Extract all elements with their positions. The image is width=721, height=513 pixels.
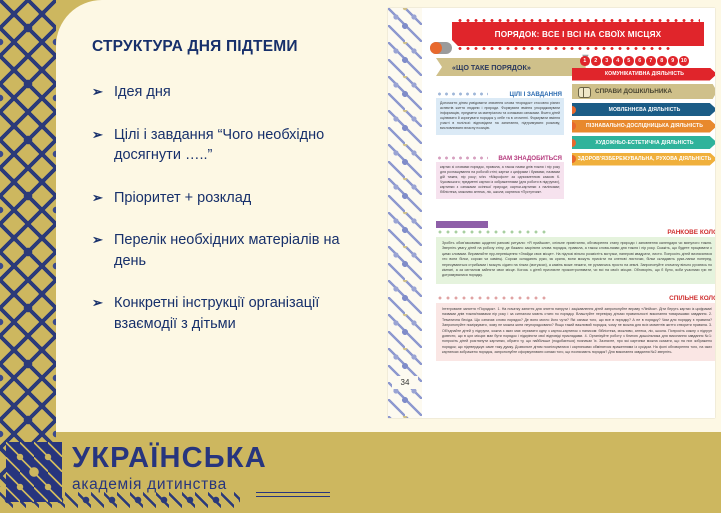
materials-box: ВАМ ЗНАДОБИТЬСЯ картки зі словами порядо… [436, 156, 564, 199]
common-circle-heading: СПІЛЬНЕ КОЛО [436, 295, 715, 302]
book-page: 34 ПОРЯДОК: ВСЕ І ВСІ НА СВОЇХ МІСЦЯХ «Щ… [388, 8, 715, 418]
olive-tab: «ЩО ТАКЕ ПОРЯДОК» [436, 58, 586, 76]
bullet-arrow-icon: ➢ [92, 231, 103, 249]
step-number-row: 1 2 3 4 5 6 7 8 9 10 [580, 56, 715, 66]
page-scan-panel: 34 ПОРЯДОК: ВСЕ І ВСІ НА СВОЇХ МІСЦЯХ «Щ… [388, 0, 721, 432]
embroidery-logo-icon [6, 442, 62, 502]
goals-heading: ЦІЛІ І ЗАВДАННЯ [436, 91, 564, 98]
dotted-rule-under-banner [456, 47, 670, 50]
morning-circle-body: Зробіть обов'язковими щоденні ранкові ри… [436, 237, 715, 284]
page-ornament-strip [388, 8, 422, 418]
materials-heading: ВАМ ЗНАДОБИТЬСЯ [436, 155, 564, 162]
morning-circle-heading: РАНКОВЕ КОЛО [436, 229, 715, 236]
step-number: 5 [624, 56, 634, 66]
bullet-arrow-icon: ➢ [92, 294, 103, 312]
step-number: 7 [646, 56, 656, 66]
outline-panel: СТРУКТУРА ДНЯ ПІДТЕМИ ➢ Ідея дня ➢ Цілі … [56, 0, 388, 432]
activity-bar-health: ЗДОРОВ'ЯЗБЕРЕЖУВАЛЬНА, РУХОВА ДІЯЛЬНІСТЬ [572, 153, 715, 166]
bullet-arrow-icon: ➢ [92, 83, 103, 101]
slide-content-card: СТРУКТУРА ДНЯ ПІДТЕМИ ➢ Ідея дня ➢ Цілі … [56, 0, 721, 432]
spravy-header: СПРАВИ ДОШКІЛЬНИКА [572, 84, 715, 99]
goals-box: ЦІЛІ І ЗАВДАННЯ Допомогти дітям усвідоми… [436, 92, 564, 135]
communicative-activity-bar: КОМУНІКАТИВНА ДІЯЛЬНІСТЬ [572, 68, 715, 81]
brand-line-1: УКРАЇНСЬКА [72, 444, 267, 473]
list-item: ➢ Пріоритет + розклад [92, 188, 374, 209]
list-item: ➢ Ідея дня [92, 82, 374, 103]
step-number: 8 [657, 56, 667, 66]
step-number: 10 [679, 56, 689, 66]
common-circle-section: СПІЛЬНЕ КОЛО Інтегроване заняття «Порядо… [436, 296, 715, 361]
brand-rule-divider [256, 492, 330, 497]
list-item-label: Перелік необхідних матеріалів на день [114, 232, 340, 269]
activity-bar-cognitive: ПІЗНАВАЛЬНО-ДОСЛІДНИЦЬКА ДІЯЛЬНІСТЬ [572, 120, 715, 133]
footer-branding: УКРАЇНСЬКА академія дитинства [0, 432, 721, 513]
step-number: 9 [668, 56, 678, 66]
page-number: 34 [392, 376, 418, 389]
brand-wordmark: УКРАЇНСЬКА академія дитинства [72, 444, 267, 494]
list-item: ➢ Перелік необхідних матеріалів на день [92, 230, 374, 271]
page-title: СТРУКТУРА ДНЯ ПІДТЕМИ [92, 38, 374, 56]
spravy-label: СПРАВИ ДОШКІЛЬНИКА [595, 88, 672, 95]
activity-column: 1 2 3 4 5 6 7 8 9 10 КОМУНІКАТИВНА ДІЯЛЬ… [572, 56, 715, 169]
list-item-label: Конкретні інструкції організації взаємод… [114, 295, 319, 332]
goals-body: Допомогти дітям усвідомити значення слов… [436, 98, 564, 135]
activity-bar-artistic: ХУДОЖНЬО-ЕСТЕТИЧНА ДІЯЛЬНІСТЬ [572, 136, 715, 149]
step-number: 4 [613, 56, 623, 66]
step-number: 3 [602, 56, 612, 66]
page-banner-title: ПОРЯДОК: ВСЕ І ВСІ НА СВОЇХ МІСЦЯХ [452, 22, 704, 46]
materials-body: картки зі словами порядок, правила, а та… [436, 162, 564, 199]
bullet-arrow-icon: ➢ [92, 189, 103, 207]
common-circle-body: Інтегроване заняття «Порядок». 1. На поч… [436, 303, 715, 361]
list-item: ➢ Цілі і завдання “Чого необхідно досягн… [92, 125, 374, 166]
activity-bar-speech: МОВЛЕННЄВА ДІЯЛЬНІСТЬ [572, 103, 715, 116]
morning-circle-section: РАНКОВЕ КОЛО Зробіть обов'язковими щоден… [436, 230, 715, 284]
list-item: ➢ Конкретні інструкції організації взаєм… [92, 293, 374, 334]
step-number: 6 [635, 56, 645, 66]
banner-knob-icon [430, 42, 452, 54]
open-book-icon [578, 87, 591, 96]
step-number: 2 [591, 56, 601, 66]
purple-marker [436, 221, 488, 228]
list-item-label: Ідея дня [114, 84, 171, 100]
list-item-label: Цілі і завдання “Чого необхідно досягнут… [114, 127, 324, 164]
outline-list: ➢ Ідея дня ➢ Цілі і завдання “Чого необх… [92, 82, 374, 335]
dotted-rule-top [456, 19, 700, 22]
bullet-arrow-icon: ➢ [92, 126, 103, 144]
list-item-label: Пріоритет + розклад [114, 190, 251, 206]
brand-line-2: академія дитинства [72, 476, 267, 494]
step-number: 1 [580, 56, 590, 66]
